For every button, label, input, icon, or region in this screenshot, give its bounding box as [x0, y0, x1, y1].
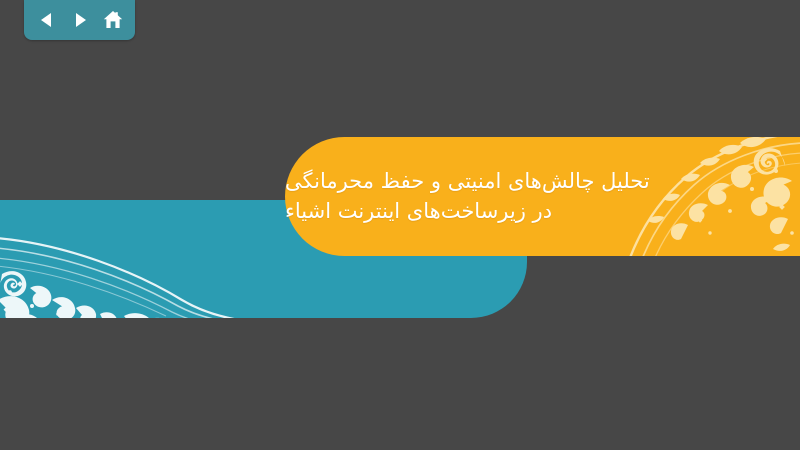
navigation-toolbar[interactable] — [24, 0, 135, 40]
forward-arrow-icon[interactable] — [67, 7, 93, 33]
home-icon[interactable] — [100, 7, 126, 33]
arabesque-ornament-icon — [612, 137, 800, 256]
back-arrow-icon[interactable] — [34, 7, 60, 33]
orange-title-band — [285, 137, 800, 256]
slide-canvas: تحلیل چالش‌های امنیتی و حفظ محرمانگی در … — [0, 0, 800, 450]
arabesque-ornament-icon — [0, 204, 296, 318]
